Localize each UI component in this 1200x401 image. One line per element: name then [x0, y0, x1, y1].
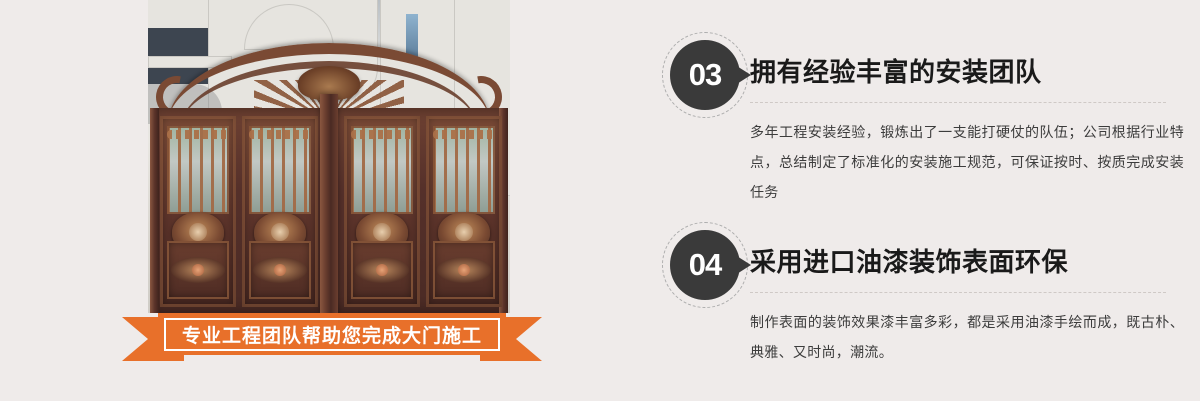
gate-center-post — [320, 94, 338, 313]
feature-number-03: 03 — [670, 40, 740, 110]
gate-panel-4 — [433, 241, 495, 299]
gate-panel-2 — [249, 241, 311, 299]
feature-divider-04 — [750, 292, 1166, 293]
building-window-right — [406, 14, 418, 58]
gate-rosette-4 — [437, 257, 491, 283]
gate-grille-2 — [249, 126, 311, 214]
feature-divider-03 — [750, 102, 1166, 103]
feature-body-04: 制作表面的装饰效果漆丰富多彩，都是采用油漆手绘而成，既古朴、典雅、又时尚，潮流。 — [750, 307, 1184, 367]
left-photo-panel: 专业工程团队帮助您完成大门施工 — [0, 0, 600, 401]
gate-leaf-1 — [160, 116, 236, 307]
feature-badge-03: 03 — [662, 32, 748, 118]
feature-number-04: 04 — [670, 230, 740, 300]
gate-grille-3 — [351, 126, 413, 214]
gate-leaf-2 — [242, 116, 318, 307]
gate-grille-1 — [167, 126, 229, 214]
gate-grille-4 — [433, 126, 495, 214]
gate-photo — [148, 0, 510, 313]
gate-rosette-1 — [171, 257, 225, 283]
gate-panel-1 — [167, 241, 229, 299]
gate-post-left — [150, 108, 159, 313]
feature-title-03: 拥有经验丰富的安装团队 — [750, 52, 1042, 89]
ribbon-caption-text: 专业工程团队帮助您完成大门施工 — [122, 313, 542, 355]
gate-frame — [150, 108, 508, 313]
gate-leaf-4 — [426, 116, 502, 307]
gate-rosette-2 — [253, 257, 307, 283]
gate-rosette-3 — [355, 257, 409, 283]
feature-title-04: 采用进口油漆装饰表面环保 — [750, 242, 1068, 279]
right-features-panel: 03 拥有经验丰富的安装团队 多年工程安装经验，锻炼出了一支能打硬仗的队伍；公司… — [650, 0, 1200, 401]
caption-ribbon: 专业工程团队帮助您完成大门施工 — [122, 313, 542, 365]
feature-body-03: 多年工程安装经验，锻炼出了一支能打硬仗的队伍；公司根据行业特点，总结制定了标准化… — [750, 117, 1184, 207]
gate-panel-3 — [351, 241, 413, 299]
feature-badge-04: 04 — [662, 222, 748, 308]
gate-structure — [148, 68, 510, 313]
gate-leaf-3 — [344, 116, 420, 307]
